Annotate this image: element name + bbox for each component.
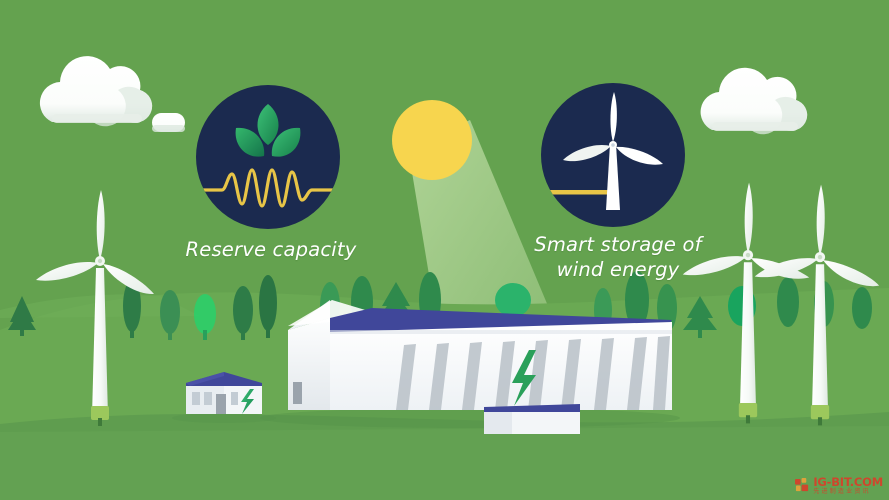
tree-item (777, 277, 799, 327)
tree-item (259, 275, 277, 331)
cloud-left-small (152, 113, 185, 132)
tree-item (194, 294, 216, 334)
ig-bit-watermark: IG-BIT.COM 先进制造业资讯 (795, 477, 883, 496)
badge-label-smart-storage: Smart storage of wind energy (518, 232, 718, 282)
house-door (216, 394, 226, 414)
badge-smart-storage-wind[interactable] (541, 83, 685, 227)
front-platform (484, 404, 580, 434)
watermark-main-text: IG-BIT.COM (813, 477, 883, 489)
house-window (231, 392, 238, 405)
tree-item (160, 290, 180, 334)
tree-item (233, 286, 253, 334)
badge-label-reserve-capacity: Reserve capacity (171, 237, 371, 262)
house-window (192, 392, 200, 405)
warehouse-side-door (293, 382, 302, 404)
tree-item (495, 283, 531, 317)
illustration-canvas: Reserve capacity Smart storage of wind e… (0, 0, 889, 500)
ig-bit-logo-icon (795, 478, 810, 493)
badge-reserve-capacity[interactable] (196, 85, 340, 229)
watermark-sub-text: 先进制造业资讯 (813, 489, 883, 495)
tree-item (852, 287, 872, 329)
gold-line (546, 190, 616, 195)
sun (392, 100, 472, 180)
house-window (204, 392, 212, 405)
energy-storage-warehouse (260, 300, 680, 434)
scene-svg (0, 0, 889, 500)
